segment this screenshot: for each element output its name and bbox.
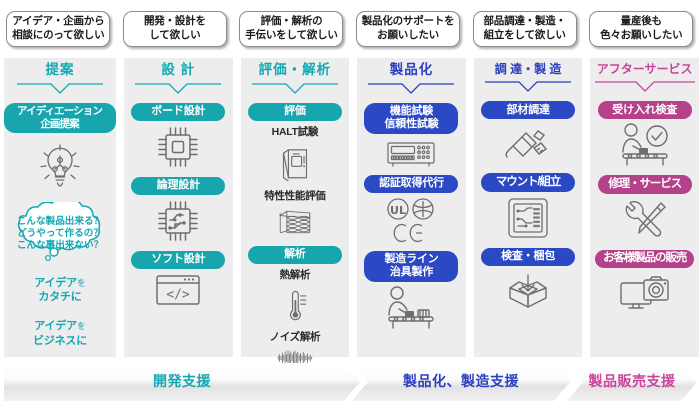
- service-sublabel-2-1: HALT試験: [272, 126, 318, 138]
- service-sublabel-2-3: 特性性能評価: [264, 190, 325, 202]
- svg-text:どうやって作るの？: どうやって作るの？: [17, 227, 103, 239]
- service-column-0: 提案アイディエーション 企画提案こんな製品出来る？どうやって作るの？こんな事出来…: [0, 58, 120, 358]
- support-phase-label: 製品販売支援: [589, 371, 676, 391]
- service-column-4: 調 達・製 造部材調達マウント/組立検査・梱包: [470, 58, 587, 358]
- column-panel: 提案アイディエーション 企画提案こんな製品出来る？どうやって作るの？こんな事出来…: [4, 58, 116, 357]
- code-window-icon: </>: [154, 272, 202, 306]
- column-panel: 調 達・製 造部材調達マウント/組立検査・梱包: [474, 58, 583, 357]
- service-column-5: アフターサービス受け入れ検査修理・サービスお客様製品の販売: [586, 58, 700, 358]
- service-pill-5-4[interactable]: お客様製品の販売: [595, 250, 694, 269]
- title-underline: [17, 81, 103, 99]
- title-underline: [485, 79, 571, 97]
- inspection-line-icon: [619, 122, 671, 168]
- column-title-0: 提案: [46, 63, 75, 78]
- header-cell: 評価・解析の 手伝いをして欲しい: [233, 6, 350, 52]
- service-pill-4-4[interactable]: 検査・梱包: [481, 248, 575, 266]
- column-panel: 製品化機能試験 信頼性試験認証取得代行UL製造ライン 治具製作: [357, 58, 466, 357]
- request-header-5: 量産後も 色々お願いしたい: [589, 11, 693, 48]
- column-panel: 評価・解析評価HALT試験特性性能評価解析熱解析ノイズ解析: [241, 58, 350, 357]
- column-title-1: 設 計: [161, 63, 195, 78]
- service-pill-4-2[interactable]: マウント/組立: [481, 173, 575, 192]
- svg-text:こんな製品出来る？: こんな製品出来る？: [17, 215, 103, 227]
- circuit-chip-icon: [155, 198, 201, 244]
- service-sublabel-2-8: ノイズ解析: [270, 331, 321, 343]
- column-blurb-3: アイデアをカタチに: [34, 276, 85, 306]
- header-cell: 開発・設計を して欲しい: [117, 6, 234, 52]
- request-header-row: アイデア・企画から 相談にのって欲しい 開発・設計を して欲しい 評価・解析の …: [0, 6, 700, 52]
- column-panel: アフターサービス受け入れ検査修理・サービスお客様製品の販売: [590, 58, 699, 357]
- request-header-3: 製品化のサポートを お願いしたい: [356, 11, 460, 48]
- column-title-2: 評価・解析: [259, 63, 332, 78]
- service-pill-2-0[interactable]: 評価: [248, 103, 342, 121]
- support-phase-label: 製品化、製造支援: [403, 371, 519, 391]
- service-pill-3-2[interactable]: 認証取得代行: [364, 175, 458, 193]
- service-column-3: 製品化機能試験 信頼性試験認証取得代行UL製造ライン 治具製作: [353, 58, 470, 358]
- thought-bubble: こんな製品出来る？どうやって作るの？こんな事出来ない？: [4, 202, 116, 266]
- thermometer-icon: [277, 288, 313, 322]
- support-phase-2: 製品販売支援: [567, 363, 697, 401]
- request-header-1: 開発・設計を して欲しい: [123, 11, 227, 48]
- support-phase-label: 開発支援: [153, 371, 211, 391]
- header-cell: アイデア・企画から 相談にのって欲しい: [0, 6, 117, 52]
- pcb-assembly-icon: [505, 195, 551, 241]
- service-pill-2-5[interactable]: 解析: [248, 246, 342, 264]
- support-phase-bar: 開発支援製品化、製造支援製品販売支援: [0, 363, 700, 403]
- svg-text:こんな事出来ない？: こんな事出来ない？: [17, 239, 103, 251]
- header-cell: 量産後も 色々お願いしたい: [583, 6, 700, 52]
- column-blurb-4: アイデアをビジネスに: [33, 319, 87, 349]
- waveform-mesh-icon: [277, 208, 313, 236]
- service-column-1: 設 計ボード設計論理設計ソフト設計</>: [120, 58, 237, 358]
- request-header-2: 評価・解析の 手伝いをして欲しい: [239, 11, 343, 48]
- service-pill-1-0[interactable]: ボード設計: [131, 103, 225, 121]
- chip-icon: [155, 124, 201, 170]
- svg-text:</>: </>: [167, 287, 191, 302]
- service-pill-3-4[interactable]: 製造ライン 治具製作: [364, 251, 458, 282]
- service-sublabel-2-6: 熱解析: [280, 269, 311, 281]
- connector-cable-icon: [503, 122, 553, 166]
- title-underline: [135, 81, 221, 99]
- service-pill-3-0[interactable]: 機能試験 信頼性試験: [364, 103, 458, 134]
- request-header-4: 部品調達・製造・ 組立をして欲しい: [473, 11, 577, 48]
- column-title-4: 調 達・製 造: [495, 63, 562, 76]
- service-pill-1-4[interactable]: ソフト設計: [131, 251, 225, 269]
- column-panel: 設 計ボード設計論理設計ソフト設計</>: [124, 58, 233, 357]
- service-pill-5-0[interactable]: 受け入れ検査: [598, 101, 692, 119]
- service-pill-4-0[interactable]: 部材調達: [481, 101, 575, 119]
- service-pill-1-2[interactable]: 論理設計: [131, 177, 225, 195]
- monitor-camera-icon: [618, 271, 672, 313]
- service-column-2: 評価・解析評価HALT試験特性性能評価解析熱解析ノイズ解析: [237, 58, 354, 358]
- lightbulb-puzzle-icon: [37, 136, 83, 188]
- measurement-instrument-icon: [385, 137, 437, 168]
- header-cell: 部品調達・製造・ 組立をして欲しい: [466, 6, 583, 52]
- open-box-icon: [504, 269, 552, 313]
- header-cell: 製品化のサポートを お願いしたい: [350, 6, 467, 52]
- title-underline: [595, 79, 695, 97]
- wrench-screwdriver-icon: [621, 197, 669, 243]
- certification-marks-icon: UL: [384, 196, 438, 244]
- service-flow-diagram: アイデア・企画から 相談にのって欲しい 開発・設計を して欲しい 評価・解析の …: [0, 0, 700, 408]
- assembly-line-worker-icon: [385, 285, 437, 331]
- service-columns: 提案アイディエーション 企画提案こんな製品出来る？どうやって作るの？こんな事出来…: [0, 58, 700, 358]
- support-phase-1: 製品化、製造支援: [352, 363, 570, 401]
- request-header-0: アイデア・企画から 相談にのって欲しい: [6, 11, 110, 48]
- column-title-3: 製品化: [390, 63, 434, 78]
- column-title-5: アフターサービス: [597, 63, 693, 76]
- svg-text:UL: UL: [391, 204, 407, 217]
- service-pill-0-0[interactable]: アイディエーション 企画提案: [4, 103, 116, 133]
- service-pill-5-2[interactable]: 修理・サービス: [598, 175, 692, 194]
- support-phase-0: 開発支援: [4, 363, 360, 401]
- test-chamber-icon: [277, 145, 313, 181]
- title-underline: [368, 81, 454, 99]
- title-underline: [252, 81, 338, 99]
